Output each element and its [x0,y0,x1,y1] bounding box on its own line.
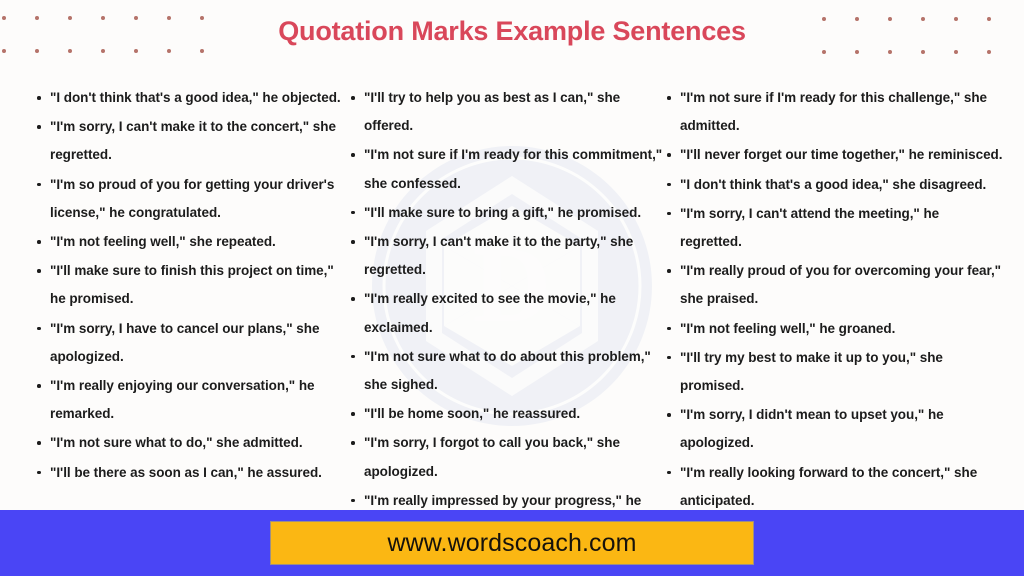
dot-row [822,0,1020,17]
sentence-list-item: "I'm not sure if I'm ready for this chal… [664,84,1004,140]
sentence-list-item: "I'm sorry, I have to cancel our plans,"… [34,315,346,371]
sentence-list-item: "I'm not sure what to do," she admitted. [34,429,346,457]
sentence-list-item: "I'm sorry, I can't make it to the party… [348,228,666,284]
sentence-list-item: "I'm sorry, I forgot to call you back," … [348,429,666,485]
sentence-list-item: "I don't think that's a good idea," he o… [34,84,346,112]
decorative-dot-icon [954,50,958,54]
sentence-list-item: "I'm really excited to see the movie," h… [348,285,666,341]
sentence-list-item: "I'm sorry, I didn't mean to upset you,"… [664,401,1004,457]
decorative-dot-icon [35,49,39,53]
decorative-dot-icon [2,49,6,53]
sentence-column-1: "I don't think that's a good idea," he o… [34,84,346,488]
sentence-list-item: "I'm not sure what to do about this prob… [348,343,666,399]
decorative-dot-icon [921,50,925,54]
sentence-list-item: "I don't think that's a good idea," she … [664,171,1004,199]
sentence-list-item: "I'm not feeling well," he groaned. [664,315,1004,343]
decorative-dot-icon [987,50,991,54]
footer-bar: www.wordscoach.com [0,510,1024,576]
sentence-columns: "I don't think that's a good idea," he o… [0,84,1024,512]
sentence-list-item: "I'll try to help you as best as I can,"… [348,84,666,140]
sentence-column-3: "I'm not sure if I'm ready for this chal… [664,84,1004,516]
dot-row [822,50,1020,83]
sentence-list-item: "I'm really enjoying our conversation," … [34,372,346,428]
sentence-list-item: "I'll be there as soon as I can," he ass… [34,459,346,487]
sentence-list-item: "I'm sorry, I can't attend the meeting,"… [664,200,1004,256]
sentence-list-item: "I'll try my best to make it up to you,"… [664,344,1004,400]
dot-row [2,49,233,82]
decorative-dot-icon [101,49,105,53]
decorative-dot-icon [134,49,138,53]
sentence-list-item: "I'm so proud of you for getting your dr… [34,171,346,227]
decorative-dot-icon [822,50,826,54]
sentence-list-item: "I'll make sure to bring a gift," he pro… [348,199,666,227]
sentence-list-item: "I'm not sure if I'm ready for this comm… [348,141,666,197]
sentence-list-item: "I'll make sure to finish this project o… [34,257,346,313]
website-url: www.wordscoach.com [387,529,636,558]
decorative-dot-icon [200,49,204,53]
decorative-dot-icon [68,49,72,53]
website-badge[interactable]: www.wordscoach.com [270,521,754,565]
sentence-list-item: "I'm not feeling well," she repeated. [34,228,346,256]
decorative-dot-icon [888,50,892,54]
sentence-list-item: "I'm really proud of you for overcoming … [664,257,1004,313]
decorative-dot-icon [167,49,171,53]
sentence-column-2: "I'll try to help you as best as I can,"… [348,84,666,544]
sentence-list-item: "I'll never forget our time together," h… [664,141,1004,169]
sentence-list-item: "I'm sorry, I can't make it to the conce… [34,113,346,169]
page-title: Quotation Marks Example Sentences [0,16,1024,47]
sentence-list-item: "I'm really looking forward to the conce… [664,459,1004,515]
decorative-dot-icon [855,50,859,54]
sentence-list-item: "I'll be home soon," he reassured. [348,400,666,428]
